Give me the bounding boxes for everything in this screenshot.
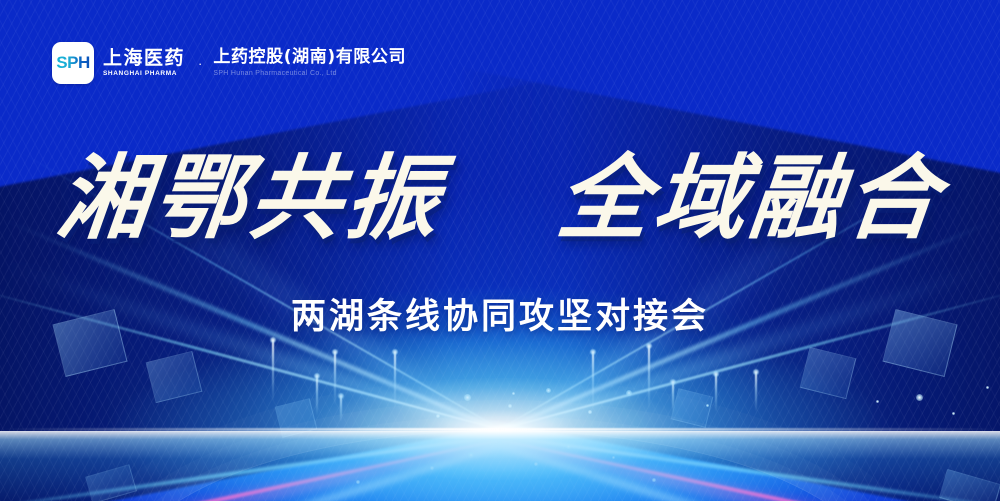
brand-name-cn: 上海医药	[103, 49, 185, 68]
main-title-wrapper: 湘鄂共振 全域融合	[0, 150, 1000, 247]
event-banner: SPH 上海医药 SHANGHAI PHARMA · 上药控股(湖南)有限公司 …	[0, 0, 1000, 501]
brand-separator-dot: ·	[198, 56, 202, 71]
main-title: 湘鄂共振 全域融合	[53, 150, 947, 247]
main-title-part2: 全域融合	[552, 144, 947, 252]
sph-logo-text: SPH	[56, 53, 89, 73]
brand-name-en: SHANGHAI PHARMA	[103, 71, 185, 78]
company-name-block: 上药控股(湖南)有限公司 SPH Hunan Pharmaceutical Co…	[213, 49, 406, 77]
company-name-en: SPH Hunan Pharmaceutical Co., Ltd	[213, 70, 406, 77]
brand-name-block: 上海医药 SHANGHAI PHARMA	[103, 49, 185, 78]
subtitle: 两湖条线协同攻坚对接会	[0, 288, 1000, 339]
reflective-floor	[0, 431, 1000, 501]
company-name-cn: 上药控股(湖南)有限公司	[213, 49, 406, 66]
main-title-part1: 湘鄂共振	[52, 144, 447, 252]
sph-logo-icon: SPH	[52, 42, 94, 84]
brand-header: SPH 上海医药 SHANGHAI PHARMA · 上药控股(湖南)有限公司 …	[52, 42, 406, 84]
